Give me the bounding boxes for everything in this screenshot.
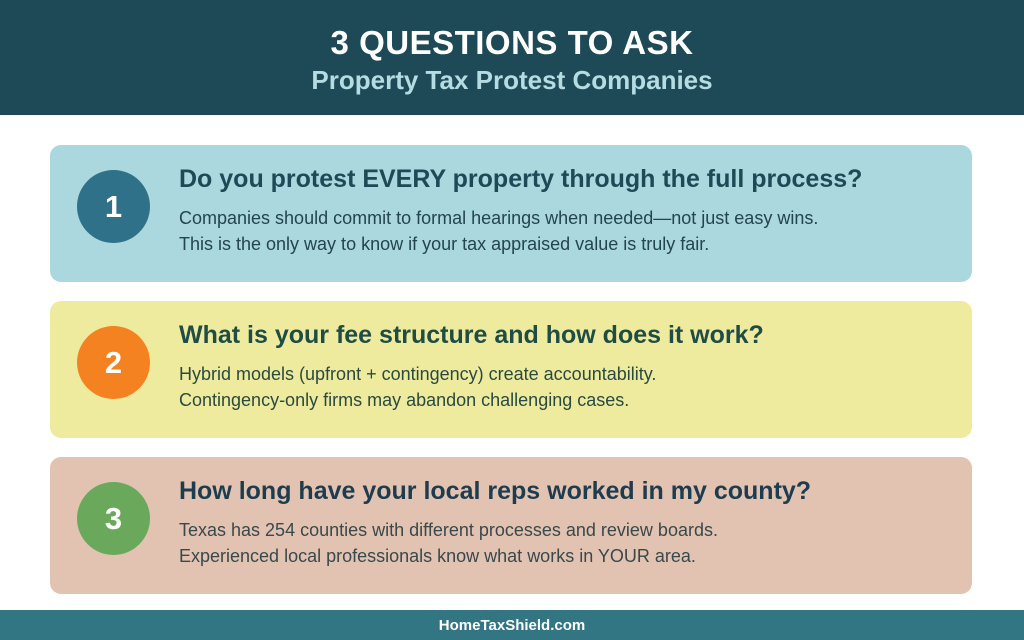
question-card-3-line-1: Texas has 254 counties with different pr… <box>179 517 950 543</box>
header-banner: 3 QUESTIONS TO ASK Property Tax Protest … <box>0 0 1024 115</box>
question-card-2-line-2: Contingency-only firms may abandon chall… <box>179 387 950 413</box>
question-card-3: 3 How long have your local reps worked i… <box>50 457 972 594</box>
question-card-2-body: What is your fee structure and how does … <box>150 321 950 414</box>
question-number-badge-1: 1 <box>77 170 150 243</box>
question-card-3-line-2: Experienced local professionals know wha… <box>179 543 950 569</box>
footer-bar: HomeTaxShield.com <box>0 610 1024 640</box>
question-number-badge-2: 2 <box>77 326 150 399</box>
question-number-badge-3: 3 <box>77 482 150 555</box>
question-card-1-body: Do you protest EVERY property through th… <box>150 165 950 258</box>
question-card-1-heading: Do you protest EVERY property through th… <box>179 165 950 194</box>
question-card-3-body: How long have your local reps worked in … <box>150 477 950 570</box>
question-card-2-line-1: Hybrid models (upfront + contingency) cr… <box>179 361 950 387</box>
question-card-1-line-1: Companies should commit to formal hearin… <box>179 205 950 231</box>
page-subtitle: Property Tax Protest Companies <box>311 67 712 94</box>
infographic-root: 3 QUESTIONS TO ASK Property Tax Protest … <box>0 0 1024 640</box>
page-title: 3 QUESTIONS TO ASK <box>331 25 694 61</box>
question-card-list: 1 Do you protest EVERY property through … <box>0 115 1024 610</box>
footer-website-label: HomeTaxShield.com <box>439 618 585 633</box>
question-card-2: 2 What is your fee structure and how doe… <box>50 301 972 438</box>
question-card-3-heading: How long have your local reps worked in … <box>179 477 950 506</box>
question-card-2-heading: What is your fee structure and how does … <box>179 321 950 350</box>
question-card-1-line-2: This is the only way to know if your tax… <box>179 231 950 257</box>
question-card-1: 1 Do you protest EVERY property through … <box>50 145 972 282</box>
